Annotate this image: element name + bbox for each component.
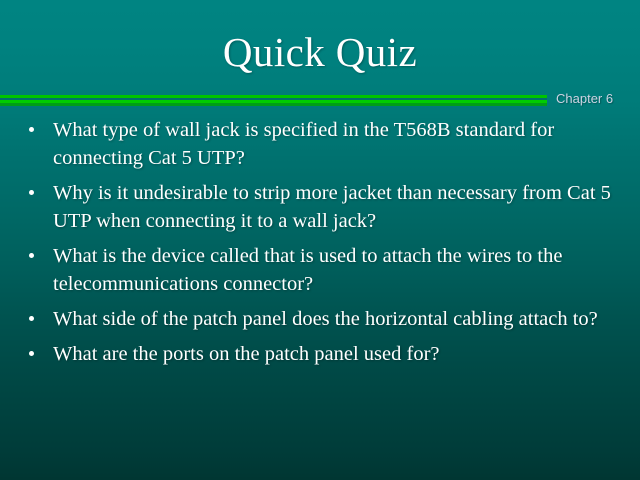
page-title: Quick Quiz: [223, 28, 417, 76]
title-divider-bar: [0, 95, 547, 106]
list-item: What side of the patch panel does the ho…: [22, 305, 622, 333]
bullet-dot-icon: [29, 351, 34, 356]
chapter-label: Chapter 6: [556, 91, 613, 107]
bullet-dot-icon: [29, 316, 34, 321]
list-item-text: What type of wall jack is specified in t…: [53, 116, 622, 172]
list-item-text: What are the ports on the patch panel us…: [53, 340, 622, 368]
list-item: Why is it undesirable to strip more jack…: [22, 179, 622, 235]
list-item-text: What side of the patch panel does the ho…: [53, 305, 622, 333]
divider-stripe-bottom: [0, 103, 547, 106]
presentation-slide: Quick Quiz Chapter 6 What type of wall j…: [0, 0, 640, 480]
bullet-dot-icon: [29, 253, 34, 258]
list-item: What type of wall jack is specified in t…: [22, 116, 622, 172]
list-item: What are the ports on the patch panel us…: [22, 340, 622, 368]
list-item-text: What is the device called that is used t…: [53, 242, 622, 298]
list-item-text: Why is it undesirable to strip more jack…: [53, 179, 622, 235]
bullet-dot-icon: [29, 127, 34, 132]
bullet-list: What type of wall jack is specified in t…: [22, 116, 622, 375]
list-item: What is the device called that is used t…: [22, 242, 622, 298]
slide-title-area: Quick Quiz: [0, 28, 640, 76]
bullet-dot-icon: [29, 190, 34, 195]
